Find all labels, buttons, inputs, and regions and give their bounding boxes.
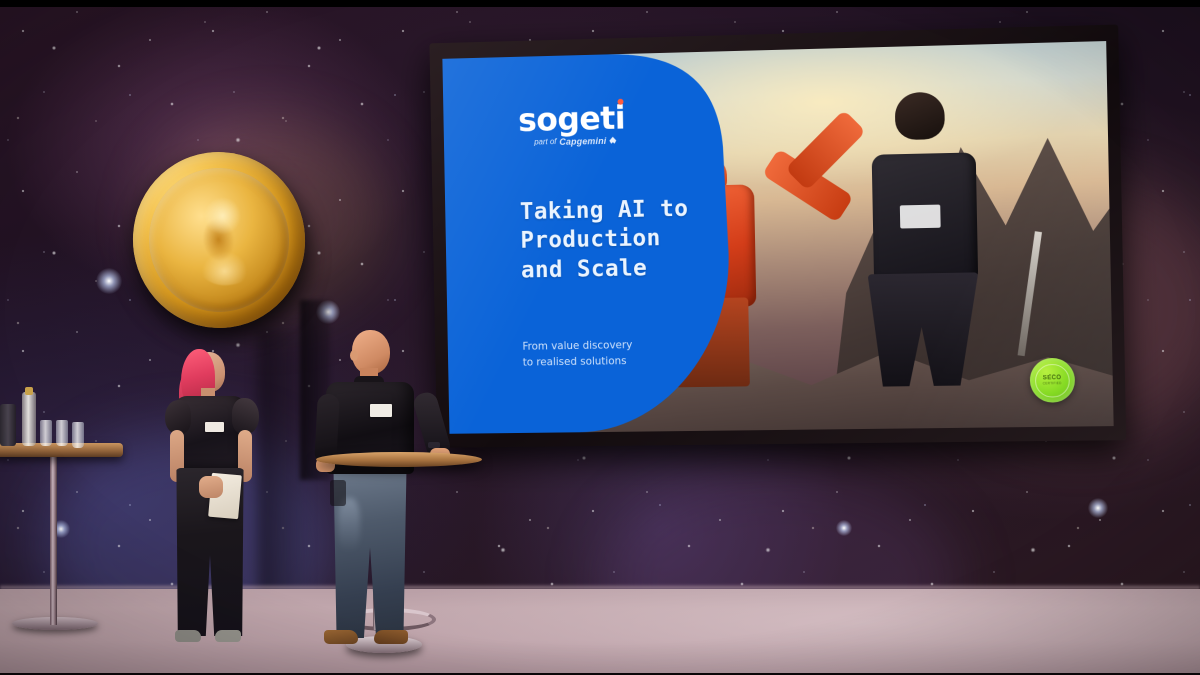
- bright-star: [1088, 498, 1108, 518]
- man-shoe-right: [374, 630, 408, 644]
- sogeti-logo-dot: [618, 98, 624, 104]
- slide-subtitle: From value discovery to realised solutio…: [522, 337, 633, 371]
- badge-inner-ring: SECO CERTIFIED: [1035, 363, 1070, 398]
- bright-star: [836, 520, 852, 536]
- tagline-prefix: part of: [534, 137, 556, 146]
- backpack-brand-label: [900, 205, 941, 228]
- woman-shoe-left: [175, 630, 201, 642]
- climber-right-legs: [867, 272, 980, 387]
- presenter-man: [318, 330, 438, 652]
- climber-right: [837, 90, 1010, 376]
- projection-screen: sogeti part of Capgemini Taking AI to Pr…: [429, 24, 1126, 447]
- dark-bottle: [0, 404, 16, 446]
- sogeti-logo: sogeti part of Capgemini: [518, 101, 626, 147]
- presentation-slide: sogeti part of Capgemini Taking AI to Pr…: [442, 41, 1113, 434]
- bottle-cap: [25, 387, 33, 395]
- conference-stage-photo: sogeti part of Capgemini Taking AI to Pr…: [0, 0, 1200, 675]
- man-shoe-left: [324, 630, 358, 644]
- badge-sublabel: CERTIFIED: [1043, 383, 1062, 386]
- bright-star: [96, 268, 122, 294]
- name-badge: [205, 422, 224, 432]
- capgemini-spade-icon: [609, 137, 616, 144]
- jeans-highlight: [338, 498, 360, 552]
- puff-sleeve-left: [165, 400, 191, 434]
- puff-sleeve-right: [232, 398, 259, 434]
- drinking-glass: [40, 420, 52, 446]
- woman-hands: [199, 476, 223, 498]
- name-badge: [370, 404, 392, 417]
- drinking-glass: [56, 420, 68, 446]
- jeans-pocket: [330, 480, 346, 506]
- water-bottle: [22, 392, 36, 446]
- letterbox-bar-top: [0, 0, 1200, 7]
- gold-medal: [133, 152, 323, 347]
- high-table-top: [316, 452, 482, 467]
- side-table-pole: [50, 455, 57, 625]
- climber-right-head: [894, 91, 945, 140]
- man-ear: [350, 350, 358, 361]
- sogeti-wordmark: sogeti: [518, 101, 626, 135]
- presenter-woman: [163, 352, 259, 648]
- woman-shoe-right: [215, 630, 241, 642]
- drinking-glass: [72, 422, 84, 448]
- slide-title: Taking AI to Production and Scale: [520, 194, 690, 286]
